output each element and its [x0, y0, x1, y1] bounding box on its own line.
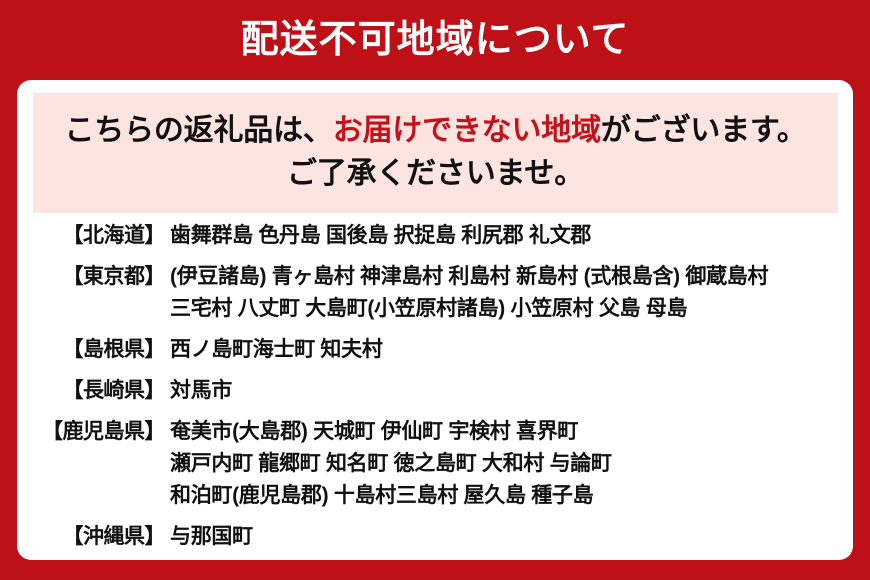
region-row-shimane: 【島根県】 西ノ島町海士町 知夫村 [17, 334, 841, 366]
region-values: 歯舞群島 色丹島 国後島 択捉島 利尻郡 礼文郡 [165, 220, 841, 252]
notice-box: こちらの返礼品は、お届けできない地域がございます。 ご了承くださいませ。 [33, 93, 838, 213]
region-row-tokyo: 【東京都】 (伊豆諸島) 青ヶ島村 神津島村 利島村 新島村 (式根島含) 御蔵… [17, 261, 841, 325]
content-card: こちらの返礼品は、お届けできない地域がございます。 ご了承くださいませ。 【北海… [17, 80, 853, 560]
region-label: 【長崎県】 [17, 375, 165, 407]
region-value-line: 西ノ島町海士町 知夫村 [170, 334, 841, 366]
region-label: 【沖縄県】 [17, 521, 165, 553]
region-values: (伊豆諸島) 青ヶ島村 神津島村 利島村 新島村 (式根島含) 御蔵島村 三宅村… [165, 261, 841, 325]
region-values: 与那国町 [165, 521, 841, 553]
delivery-restriction-banner: 配送不可地域について こちらの返礼品は、お届けできない地域がございます。 ご了承… [0, 0, 870, 580]
banner-header: 配送不可地域について [0, 0, 870, 80]
region-value-line: 瀬戸内町 龍郷町 知名町 徳之島町 大和村 与論町 [170, 448, 841, 480]
notice-line-1: こちらの返礼品は、お届けできない地域がございます。 [64, 110, 806, 153]
region-label: 【東京都】 [17, 261, 165, 293]
region-row-nagasaki: 【長崎県】 対馬市 [17, 375, 841, 407]
region-value-line: 歯舞群島 色丹島 国後島 択捉島 利尻郡 礼文郡 [170, 220, 841, 252]
region-values: 西ノ島町海士町 知夫村 [165, 334, 841, 366]
region-label: 【島根県】 [17, 334, 165, 366]
region-row-kagoshima: 【鹿児島県】 奄美市(大島郡) 天城町 伊仙町 宇検村 喜界町 瀬戸内町 龍郷町… [17, 416, 841, 512]
notice-line-2: ご了承くださいませ。 [287, 153, 584, 196]
region-value-line: 対馬市 [170, 375, 841, 407]
region-row-okinawa: 【沖縄県】 与那国町 [17, 521, 841, 553]
region-value-line: 和泊町(鹿児島郡) 十島村三島村 屋久島 種子島 [170, 480, 841, 512]
page-title: 配送不可地域について [241, 21, 630, 59]
region-values: 対馬市 [165, 375, 841, 407]
notice-accent: お届けできない地域 [333, 114, 601, 147]
region-list: 【北海道】 歯舞群島 色丹島 国後島 択捉島 利尻郡 礼文郡 【東京都】 (伊豆… [17, 220, 853, 562]
region-value-line: 奄美市(大島郡) 天城町 伊仙町 宇検村 喜界町 [170, 416, 841, 448]
region-row-hokkaido: 【北海道】 歯舞群島 色丹島 国後島 択捉島 利尻郡 礼文郡 [17, 220, 841, 252]
region-value-line: 与那国町 [170, 521, 841, 553]
region-label: 【鹿児島県】 [17, 416, 165, 448]
region-label: 【北海道】 [17, 220, 165, 252]
notice-prefix: こちらの返礼品は、 [64, 114, 332, 147]
region-value-line: (伊豆諸島) 青ヶ島村 神津島村 利島村 新島村 (式根島含) 御蔵島村 [170, 261, 841, 293]
region-value-line: 三宅村 八丈町 大島町(小笠原村諸島) 小笠原村 父島 母島 [170, 293, 841, 325]
region-values: 奄美市(大島郡) 天城町 伊仙町 宇検村 喜界町 瀬戸内町 龍郷町 知名町 徳之… [165, 416, 841, 512]
notice-suffix: がございます。 [601, 114, 807, 147]
